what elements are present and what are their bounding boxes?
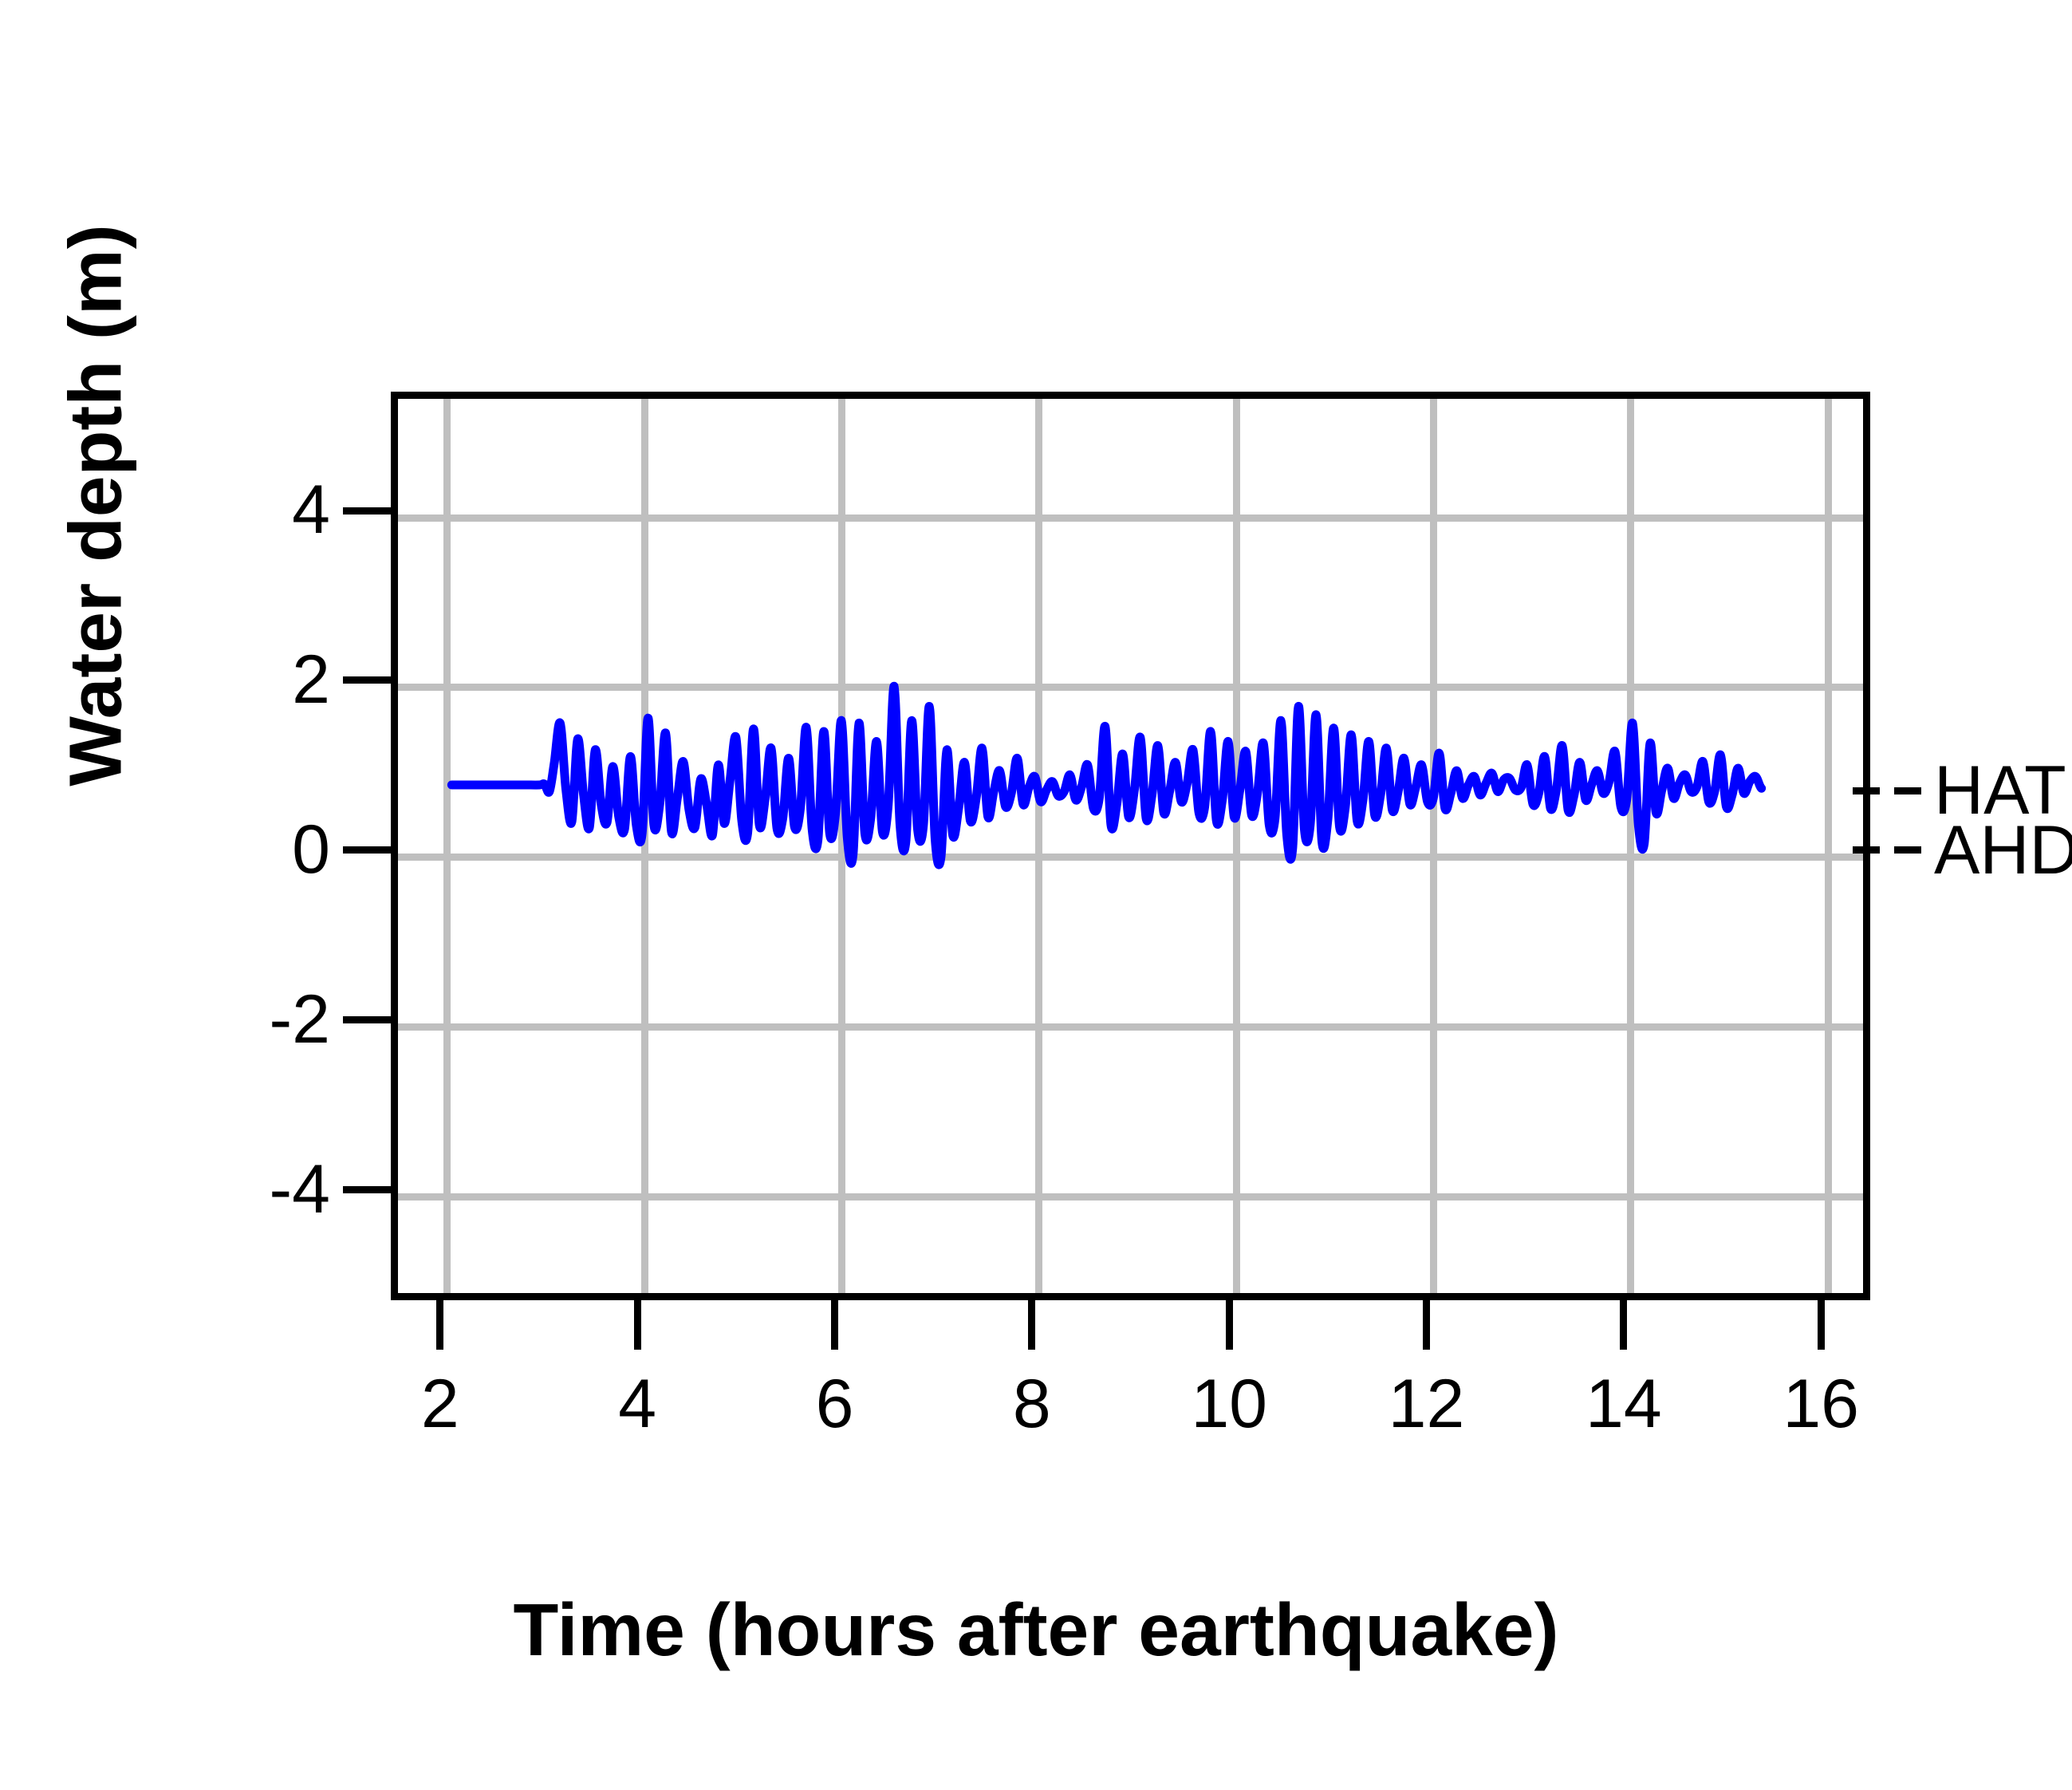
y-axis-title-wrapper: Water depth (m) [53, 27, 139, 984]
y-axis-tick [343, 1186, 391, 1193]
x-axis-tick-label: 14 [1544, 1364, 1704, 1444]
x-axis-tick-label: 4 [557, 1364, 717, 1444]
x-axis-tick-label: 16 [1741, 1364, 1901, 1444]
y-axis-tick [343, 1016, 391, 1023]
x-axis-tick [436, 1300, 443, 1350]
x-axis-tick-label: 10 [1149, 1364, 1309, 1444]
x-axis-tick [1423, 1300, 1430, 1350]
y-axis-tick [343, 676, 391, 684]
reference-dash-ahd [1894, 846, 1921, 854]
x-axis-tick-label: 12 [1347, 1364, 1507, 1444]
y-axis-tick [343, 507, 391, 515]
y-axis-tick [343, 846, 391, 854]
x-axis-title: Time (hours after earthquake) [0, 1587, 2072, 1673]
reference-tick-ahd [1853, 846, 1880, 854]
x-axis-tick [1028, 1300, 1035, 1350]
x-axis-tick [1620, 1300, 1627, 1350]
x-axis-tick [634, 1300, 641, 1350]
water-level-series [451, 686, 1761, 865]
reference-tick-hat [1853, 787, 1880, 794]
reference-dash-hat [1894, 787, 1921, 794]
y-axis-title: Water depth (m) [53, 27, 139, 984]
plot-area [391, 392, 1870, 1300]
x-axis-tick [1818, 1300, 1825, 1350]
data-layer [398, 399, 1863, 1293]
x-axis-tick-label: 8 [952, 1364, 1112, 1444]
chart-figure: 246810121416420-2-4HATAHD Time (hours af… [0, 0, 2072, 1790]
x-axis-tick [831, 1300, 838, 1350]
x-axis-tick-label: 2 [360, 1364, 520, 1444]
x-axis-tick-label: 6 [755, 1364, 915, 1444]
x-axis-tick [1226, 1300, 1233, 1350]
